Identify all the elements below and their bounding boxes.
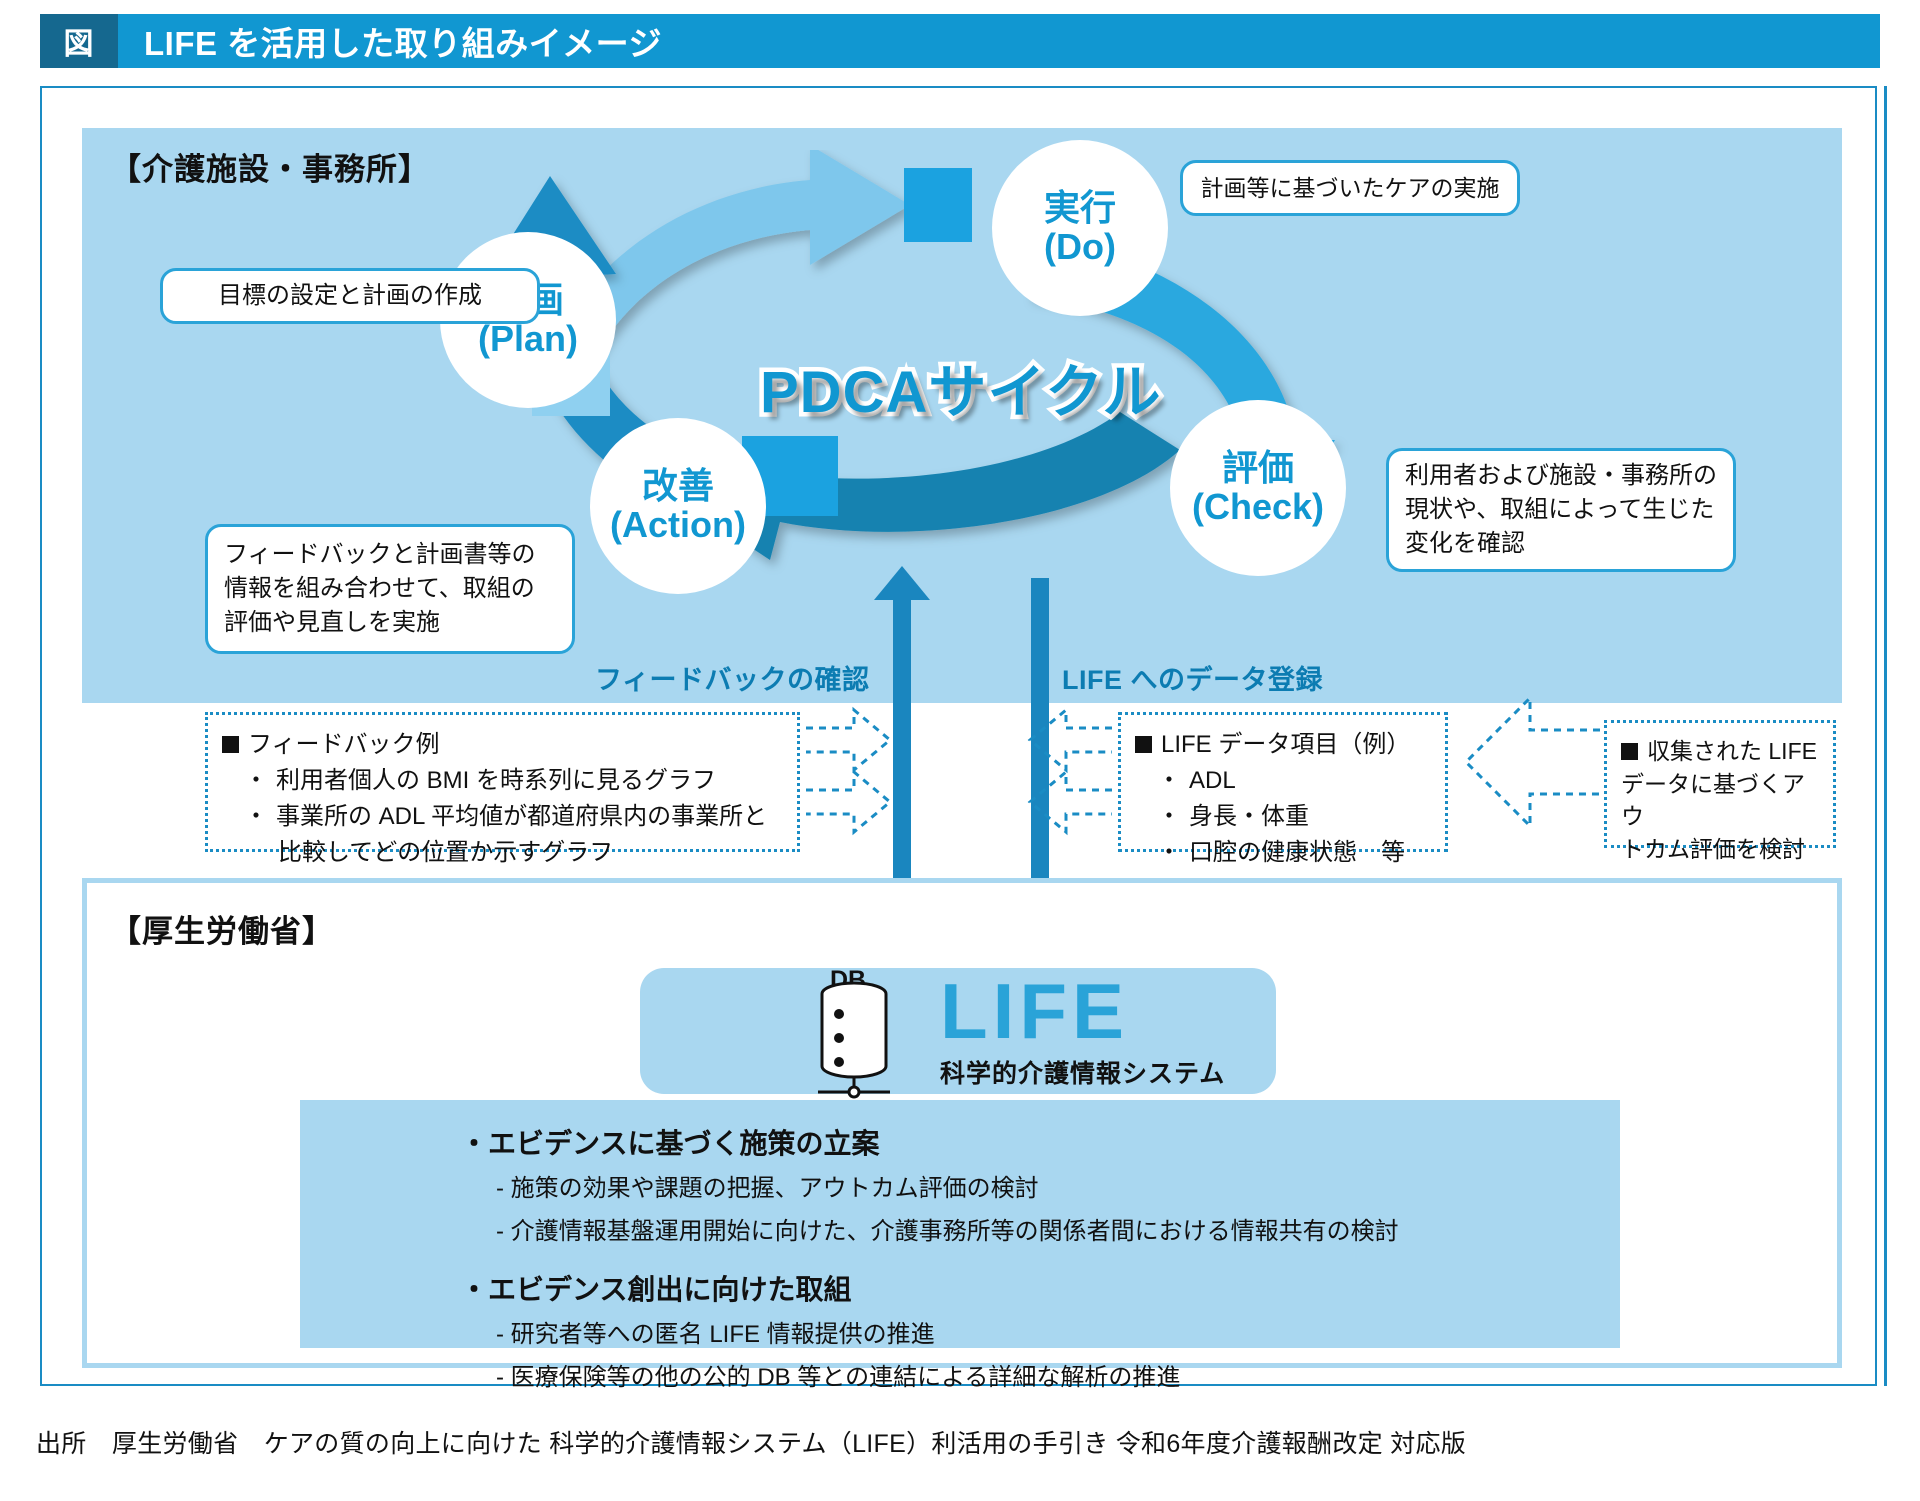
callout-action-line3: 評価や見直しを実施 xyxy=(224,606,536,640)
life-items-heading-row: LIFE データ項目（例） xyxy=(1135,727,1431,763)
outcome-line-2: トカム評価を検討 xyxy=(1621,833,1819,866)
feedback-example-heading: フィードバック例 xyxy=(248,731,440,758)
callout-action: フィードバックと計画書等の 情報を組み合わせて、取組の 評価や見直しを実施 xyxy=(205,524,575,654)
page-title: LIFE を活用した取り組みイメージ xyxy=(118,14,1880,68)
life-item-2: ・身長・体重 xyxy=(1135,799,1431,835)
figure-chip: 図 xyxy=(40,14,118,68)
outcome-line-1: データに基づくアウ xyxy=(1621,768,1819,833)
arrow-action-cap xyxy=(742,436,838,516)
square-bullet-icon xyxy=(222,736,239,753)
dotted-box-feedback-example: フィードバック例 ・利用者個人の BMI を時系列に見るグラフ ・事業所の AD… xyxy=(205,712,800,852)
policy-section-1-item-2: - 介護情報基盤運用開始に向けた、介護事務所等の関係者間における情報共有の検討 xyxy=(496,1211,1620,1246)
arrow-plan-cap xyxy=(532,346,610,416)
policy-section-2-item-1: - 研究者等への匿名 LIFE 情報提供の推進 xyxy=(496,1314,1620,1349)
policy-box: ・エビデンスに基づく施策の立案 - 施策の効果や課題の把握、アウトカム評価の検討… xyxy=(300,1100,1620,1348)
feedback-example-item-2: ・事業所の ADL 平均値が都道府県内の事業所と xyxy=(222,799,783,835)
callout-check-line3: 変化を確認 xyxy=(1405,527,1717,561)
policy-gap xyxy=(300,1254,1620,1268)
callout-action-line1: フィードバックと計画書等の xyxy=(224,538,536,572)
ministry-panel-label: 【厚生労働省】 xyxy=(110,906,334,951)
square-bullet-icon xyxy=(1621,743,1638,760)
life-item-3: ・口腔の健康状態 等 xyxy=(1135,835,1431,871)
life-subtitle: 科学的介護情報システム xyxy=(940,1054,1225,1090)
dot-bullet-icon: ・ xyxy=(1157,839,1181,866)
callout-plan-text: 目標の設定と計画の作成 xyxy=(218,279,482,313)
label-life-registration: LIFE へのデータ登録 xyxy=(1062,658,1323,697)
feedback-example-item-2-cont: 比較してどの位置か示すグラフ xyxy=(222,835,783,871)
source-note: 出所 厚生労働省 ケアの質の向上に向けた 科学的介護情報システム（LIFE）利活… xyxy=(36,1424,1466,1460)
callout-plan: 目標の設定と計画の作成 xyxy=(160,268,540,324)
frame-right-rule xyxy=(1884,86,1887,1386)
arrow-do-cap xyxy=(904,168,972,242)
callout-check: 利用者および施設・事務所の 現状や、取組によって生じた 変化を確認 xyxy=(1386,448,1736,572)
callout-check-line1: 利用者および施設・事務所の xyxy=(1405,459,1717,493)
policy-section-1-heading: ・エビデンスに基づく施策の立案 xyxy=(460,1122,1620,1162)
square-bullet-icon xyxy=(1135,736,1152,753)
facility-panel-label: 【介護施設・事務所】 xyxy=(110,144,430,189)
life-logo: LIFE xyxy=(940,972,1129,1050)
figure-header: 図 LIFE を活用した取り組みイメージ xyxy=(40,14,1880,68)
pdca-center-label: PDCAサイクル xyxy=(760,345,1161,429)
policy-section-2-item-2: - 医療保険等の他の公的 DB 等との連結による詳細な解析の推進 xyxy=(496,1357,1620,1392)
policy-section-2-heading: ・エビデンス創出に向けた取組 xyxy=(460,1268,1620,1308)
database-icon xyxy=(812,980,896,1100)
dot-bullet-icon: ・ xyxy=(1157,767,1181,794)
outcome-heading: 収集された LIFE xyxy=(1647,738,1817,764)
feedback-example-item-1: ・利用者個人の BMI を時系列に見るグラフ xyxy=(222,763,783,799)
callout-do-text: 計画等に基づいたケアの実施 xyxy=(1201,172,1500,205)
life-item-1: ・ADL xyxy=(1135,763,1431,799)
arrow-action-to-plan xyxy=(488,176,670,480)
dot-bullet-icon: ・ xyxy=(1157,803,1181,830)
outcome-heading-row: 収集された LIFE xyxy=(1621,735,1819,768)
callout-action-line2: 情報を組み合わせて、取組の xyxy=(224,572,536,606)
label-feedback-confirm: フィードバックの確認 xyxy=(595,658,869,697)
arrow-feedback-up-head xyxy=(874,566,930,600)
dot-bullet-icon: ・ xyxy=(244,803,268,830)
dot-bullet-icon: ・ xyxy=(244,767,268,794)
policy-section-1-item-1: - 施策の効果や課題の把握、アウトカム評価の検討 xyxy=(496,1168,1620,1203)
feedback-example-heading-row: フィードバック例 xyxy=(222,727,783,763)
callout-do: 計画等に基づいたケアの実施 xyxy=(1180,160,1520,216)
callout-check-line2: 現状や、取組によって生じた xyxy=(1405,493,1717,527)
life-items-heading: LIFE データ項目（例） xyxy=(1161,731,1410,758)
dotted-box-outcome: 収集された LIFE データに基づくアウ トカム評価を検討 xyxy=(1604,720,1836,848)
dotted-box-life-items: LIFE データ項目（例） ・ADL ・身長・体重 ・口腔の健康状態 等 xyxy=(1118,712,1448,852)
